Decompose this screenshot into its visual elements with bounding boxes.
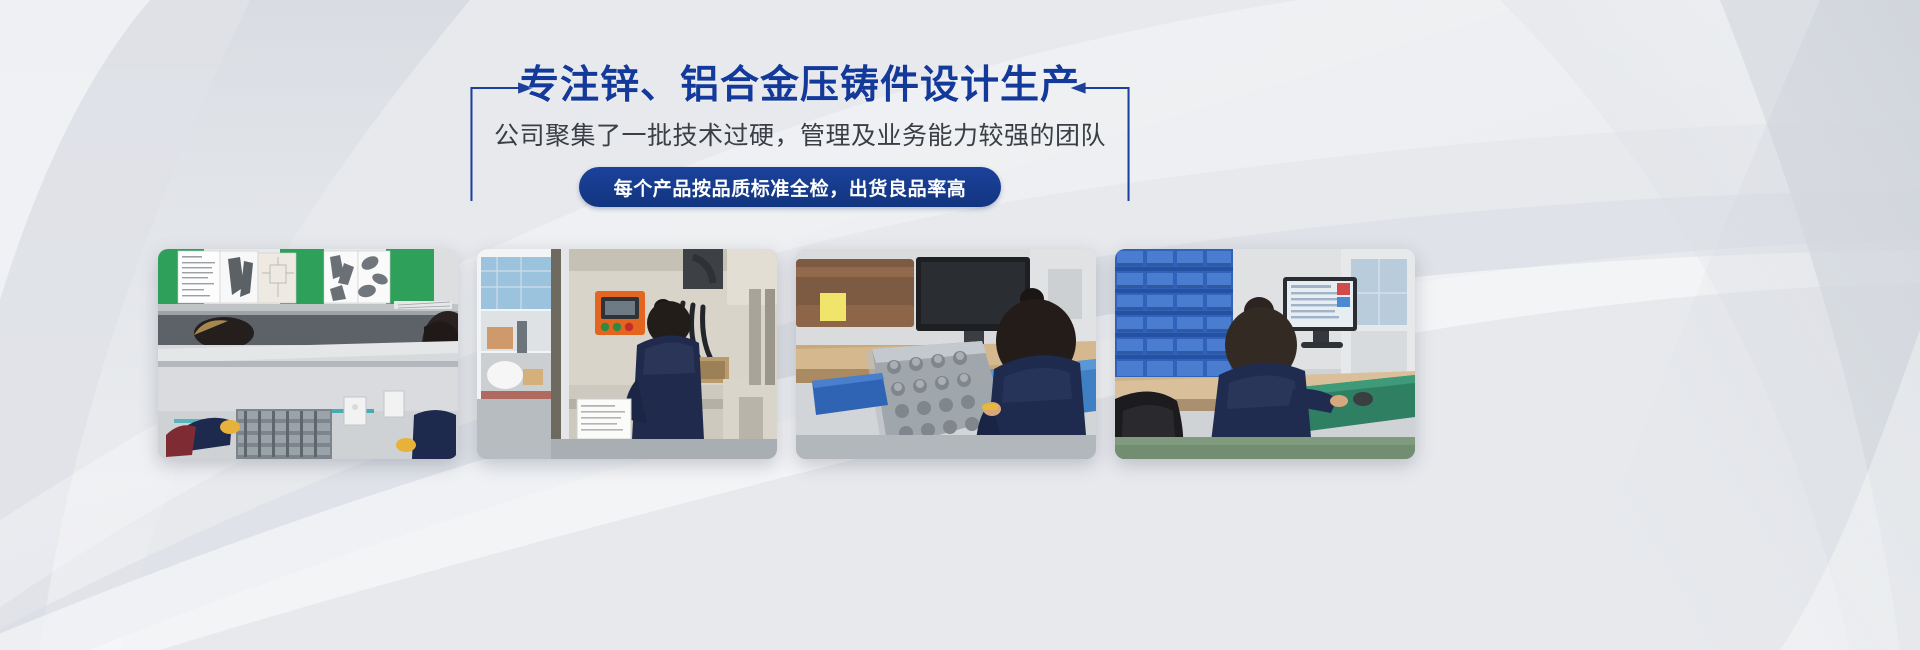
gallery-photo-quality-inspection[interactable]: [796, 249, 1096, 459]
promo-banner: 专注锌、铝合金压铸件设计生产 公司聚集了一批技术过硬，管理及业务能力较强的团队 …: [0, 0, 1920, 650]
photo-diecasting-machine-image: [477, 249, 777, 459]
photo-quality-inspection-image: [796, 249, 1096, 459]
gallery-photo-assembly-bench[interactable]: [158, 249, 458, 459]
page-subtitle: 公司聚集了一批技术过硬，管理及业务能力较强的团队: [430, 115, 1170, 157]
photo-warehouse-desk-image: [1115, 249, 1415, 459]
gallery-photo-warehouse-desk[interactable]: [1115, 249, 1415, 459]
page-title: 专注锌、铝合金压铸件设计生产: [430, 60, 1170, 112]
quality-badge-label: 每个产品按品质标准全检，出货良品率高: [614, 174, 967, 201]
quality-badge: 每个产品按品质标准全检，出货良品率高: [579, 167, 1001, 207]
gallery-photo-diecasting-machine[interactable]: [477, 249, 777, 459]
photo-assembly-bench-image: [158, 249, 458, 459]
photo-gallery: [0, 249, 1920, 459]
